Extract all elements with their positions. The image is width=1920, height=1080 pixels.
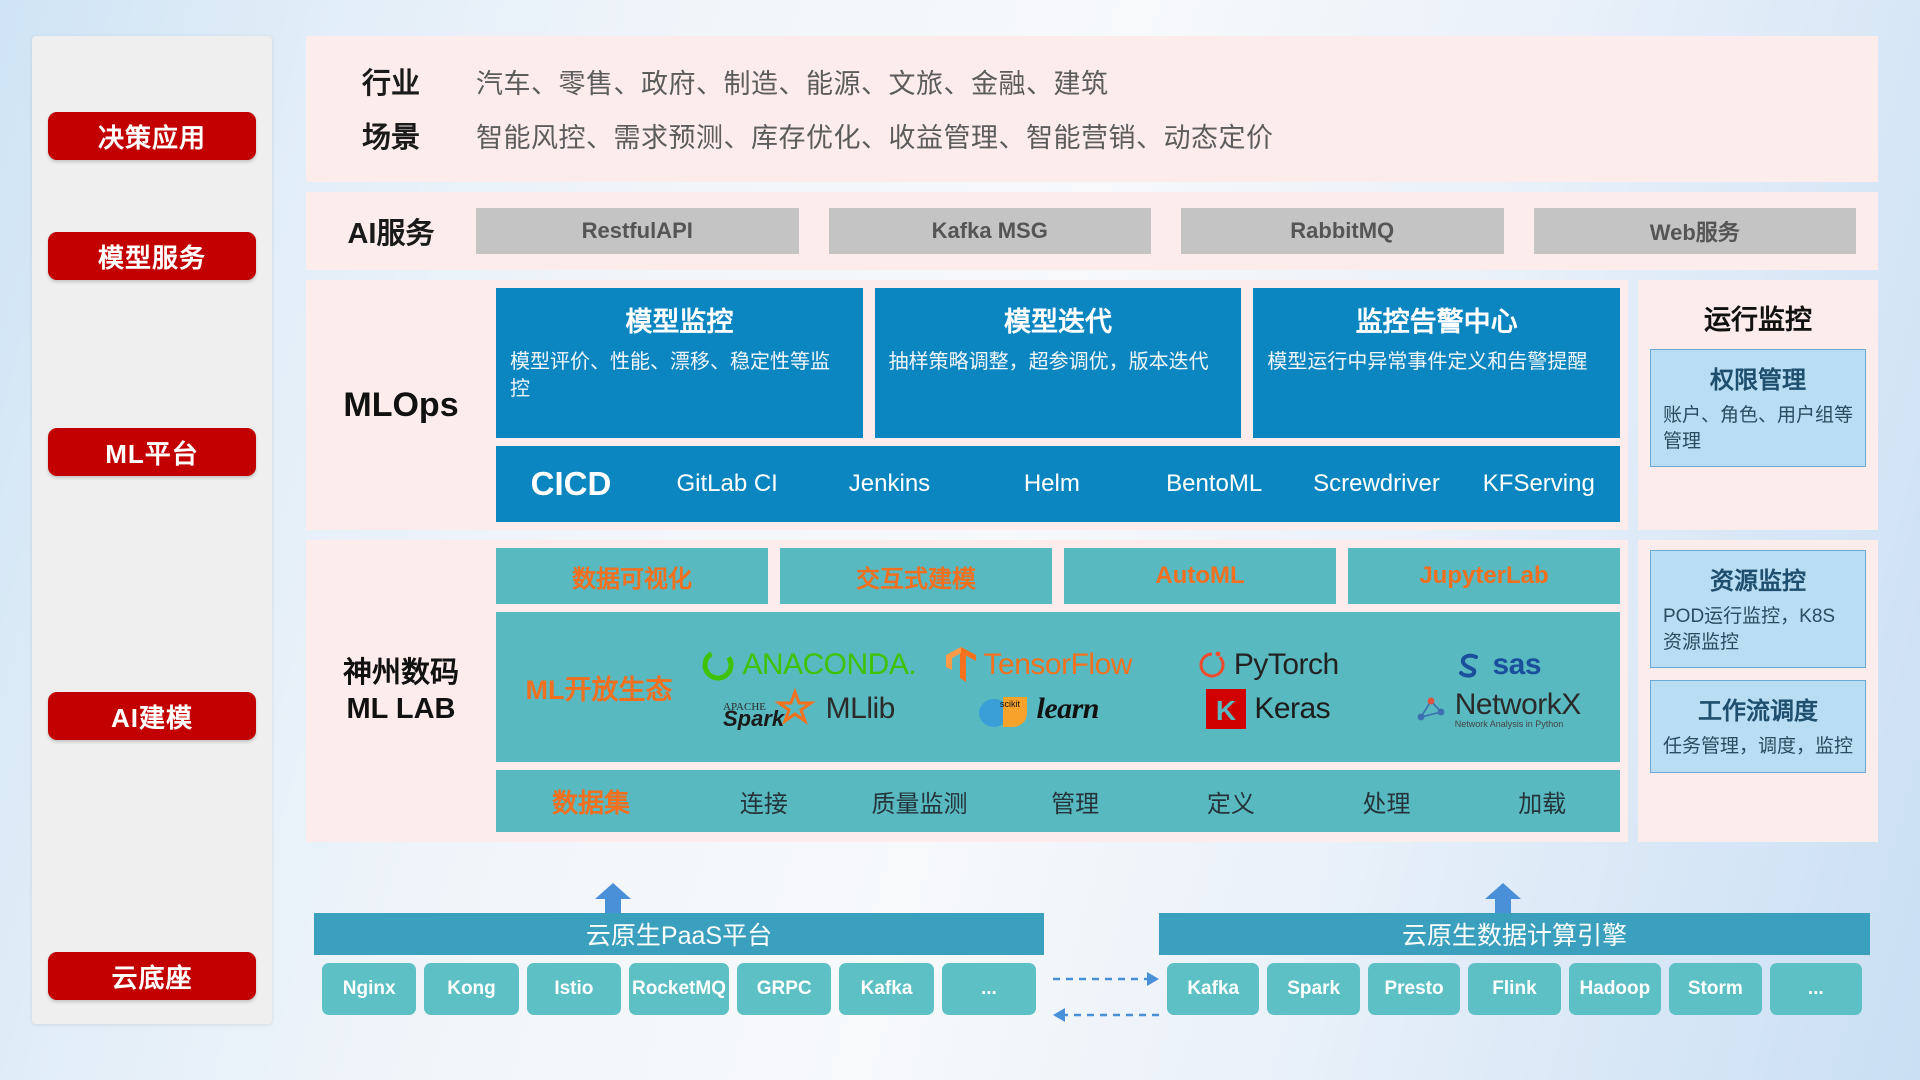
svg-text:scikit: scikit xyxy=(1000,699,1020,709)
mlops-card-title: 模型监控 xyxy=(510,300,849,339)
runtime-monitoring-sidebar-lower: 资源监控 POD运行监控，K8S资源监控 工作流调度 任务管理，调度，监控 xyxy=(1638,540,1878,842)
dataset-item-quality[interactable]: 质量监测 xyxy=(842,784,998,819)
cicd-item-jenkins[interactable]: Jenkins xyxy=(808,471,970,496)
dataset-item-process[interactable]: 处理 xyxy=(1309,784,1465,819)
scenario-row-label: 场景 xyxy=(306,114,476,156)
cloud-native-paas-group: 云原生PaaS平台 Nginx Kong Istio RocketMQ GRPC… xyxy=(314,913,1044,1025)
mlops-card-title: 模型迭代 xyxy=(889,300,1228,339)
cloud-native-paas-chip-list: Nginx Kong Istio RocketMQ GRPC Kafka ... xyxy=(314,955,1044,1025)
spark-icon: APACHE Spark xyxy=(723,688,819,730)
data-chip-presto[interactable]: Presto xyxy=(1368,963,1460,1015)
cloud-foundation-section: 云原生PaaS平台 Nginx Kong Istio RocketMQ GRPC… xyxy=(306,885,1878,1055)
networkx-icon xyxy=(1414,692,1448,726)
ml-lab-content: 数据可视化 交互式建模 AutoML JupyterLab ML开放生态 ANA… xyxy=(496,540,1628,842)
monitor-card-permission[interactable]: 权限管理 账户、角色、用户组等管理 xyxy=(1650,349,1866,467)
left-rail: 决策应用 模型服务 ML平台 AI建模 云底座 xyxy=(32,36,272,1024)
data-chip-flink[interactable]: Flink xyxy=(1468,963,1560,1015)
ai-service-chip-kafka-msg[interactable]: Kafka MSG xyxy=(829,208,1152,254)
anaconda-icon xyxy=(701,648,735,682)
rail-chip-label: 决策应用 xyxy=(98,118,206,155)
monitor-card-title: 权限管理 xyxy=(1663,360,1853,395)
cicd-item-gitlab-ci[interactable]: GitLab CI xyxy=(646,471,808,496)
logo-keras: K Keras xyxy=(1153,688,1383,730)
ai-service-chip-web-service[interactable]: Web服务 xyxy=(1534,208,1857,254)
keras-icon: K xyxy=(1205,688,1247,730)
monitor-card-title: 工作流调度 xyxy=(1663,691,1853,726)
logo-mllib-label: MLlib xyxy=(826,692,895,726)
ml-open-ecosystem-row: ML开放生态 ANACONDA. xyxy=(496,612,1620,762)
monitor-card-desc: 任务管理，调度，监控 xyxy=(1663,734,1853,760)
data-chip-spark[interactable]: Spark xyxy=(1267,963,1359,1015)
cloud-chip-rocketmq[interactable]: RocketMQ xyxy=(629,963,729,1015)
dataset-item-manage[interactable]: 管理 xyxy=(997,784,1153,819)
mlops-panel: MLOps 模型监控 模型评价、性能、漂移、稳定性等监控 模型迭代 抽样策略调整… xyxy=(306,280,1628,530)
dataset-item-connect[interactable]: 连接 xyxy=(686,784,842,819)
logo-anaconda-label: ANACONDA. xyxy=(742,648,916,682)
mlops-content: 模型监控 模型评价、性能、漂移、稳定性等监控 模型迭代 抽样策略调整，超参调优，… xyxy=(496,280,1628,530)
logo-anaconda: ANACONDA. xyxy=(694,648,924,682)
monitor-card-workflow[interactable]: 工作流调度 任务管理，调度，监控 xyxy=(1650,680,1866,773)
logo-scikit-learn: scikit learn xyxy=(924,687,1154,731)
ai-service-chip-rabbitmq[interactable]: RabbitMQ xyxy=(1181,208,1504,254)
sidebar-spacer xyxy=(1650,785,1866,830)
data-chip-storm[interactable]: Storm xyxy=(1669,963,1761,1015)
monitor-card-resource[interactable]: 资源监控 POD运行监控，K8S资源监控 xyxy=(1650,550,1866,668)
monitor-card-desc: POD运行监控，K8S资源监控 xyxy=(1663,604,1853,655)
ml-lab-label: 神州数码 ML LAB xyxy=(306,540,496,842)
cicd-title: CICD xyxy=(496,465,646,503)
logo-learn-label: learn xyxy=(1036,692,1099,726)
up-arrow-paas-icon xyxy=(591,883,635,917)
tool-chip-interactive-modeling[interactable]: 交互式建模 xyxy=(780,548,1052,604)
scenario-row: 场景 智能风控、需求预测、库存优化、收益管理、智能营销、动态定价 xyxy=(306,108,1878,162)
cloud-chip-istio[interactable]: Istio xyxy=(527,963,621,1015)
ai-service-chip-restfulapi[interactable]: RestfulAPI xyxy=(476,208,799,254)
mlops-card-title: 监控告警中心 xyxy=(1267,300,1606,339)
cloud-chip-kafka[interactable]: Kafka xyxy=(839,963,933,1015)
logo-keras-label: Keras xyxy=(1254,692,1330,726)
cicd-item-kfserving[interactable]: KFServing xyxy=(1458,471,1620,496)
tool-chip-data-visualization[interactable]: 数据可视化 xyxy=(496,548,768,604)
dataset-row: 数据集 连接 质量监测 管理 定义 处理 加载 xyxy=(496,770,1620,832)
mlops-card-desc: 模型评价、性能、漂移、稳定性等监控 xyxy=(510,349,849,403)
logo-tensorflow-label: TensorFlow xyxy=(984,648,1132,682)
dataset-label: 数据集 xyxy=(496,783,686,820)
logo-networkx: NetworkX Network Analysis in Python xyxy=(1383,690,1613,729)
bidirectional-dashed-arrows-icon xyxy=(1051,967,1161,1027)
scikit-learn-icon: scikit xyxy=(977,687,1029,731)
runtime-monitoring-sidebar: 运行监控 权限管理 账户、角色、用户组等管理 xyxy=(1638,280,1878,530)
cloud-chip-nginx[interactable]: Nginx xyxy=(322,963,416,1015)
ml-lab-row: 神州数码 ML LAB 数据可视化 交互式建模 AutoML JupyterLa… xyxy=(306,540,1878,842)
cloud-chip-grpc[interactable]: GRPC xyxy=(737,963,831,1015)
cloud-native-data-engine-title: 云原生数据计算引擎 xyxy=(1159,913,1870,955)
cloud-native-data-engine-chip-list: Kafka Spark Presto Flink Hadoop Storm ..… xyxy=(1159,955,1870,1025)
tool-chip-automl[interactable]: AutoML xyxy=(1064,548,1336,604)
main-architecture-column: 行业 汽车、零售、政府、制造、能源、文旅、金融、建筑 场景 智能风控、需求预测、… xyxy=(306,36,1878,842)
rail-chip-ai-modeling[interactable]: AI建模 xyxy=(48,692,256,740)
logo-sas: sas xyxy=(1383,648,1613,682)
logo-pytorch: PyTorch xyxy=(1153,648,1383,682)
rail-chip-label: 云底座 xyxy=(111,958,192,995)
logo-sas-label: sas xyxy=(1492,648,1541,682)
monitor-card-title: 资源监控 xyxy=(1663,561,1853,596)
mlops-card-alert-center[interactable]: 监控告警中心 模型运行中异常事件定义和告警提醒 xyxy=(1253,288,1620,438)
monitor-card-desc: 账户、角色、用户组等管理 xyxy=(1663,403,1853,454)
mlops-card-model-iteration[interactable]: 模型迭代 抽样策略调整，超参调优，版本迭代 xyxy=(875,288,1242,438)
mlops-row: MLOps 模型监控 模型评价、性能、漂移、稳定性等监控 模型迭代 抽样策略调整… xyxy=(306,280,1878,530)
industry-scenario-band: 行业 汽车、零售、政府、制造、能源、文旅、金融、建筑 场景 智能风控、需求预测、… xyxy=(306,36,1878,182)
rail-chip-model-service[interactable]: 模型服务 xyxy=(48,232,256,280)
mlops-card-desc: 抽样策略调整，超参调优，版本迭代 xyxy=(889,349,1228,376)
logo-spark-mllib: APACHE Spark MLlib xyxy=(694,688,924,730)
mlops-card-model-monitoring[interactable]: 模型监控 模型评价、性能、漂移、稳定性等监控 xyxy=(496,288,863,438)
ml-lab-panel: 神州数码 ML LAB 数据可视化 交互式建模 AutoML JupyterLa… xyxy=(306,540,1628,842)
svg-text:K: K xyxy=(1216,695,1236,726)
data-chip-hadoop[interactable]: Hadoop xyxy=(1569,963,1661,1015)
logo-networkx-tagline: Network Analysis in Python xyxy=(1455,720,1581,729)
data-chip-kafka[interactable]: Kafka xyxy=(1167,963,1259,1015)
cicd-item-helm[interactable]: Helm xyxy=(971,471,1133,496)
ml-lab-label-line1: 神州数码 xyxy=(343,655,459,691)
rail-chip-ml-platform[interactable]: ML平台 xyxy=(48,428,256,476)
tool-chip-jupyterlab[interactable]: JupyterLab xyxy=(1348,548,1620,604)
svg-text:Spark: Spark xyxy=(723,706,786,730)
industry-row: 行业 汽车、零售、政府、制造、能源、文旅、金融、建筑 xyxy=(306,54,1878,108)
ml-open-ecosystem-label: ML开放生态 xyxy=(504,668,694,707)
cloud-chip-kong[interactable]: Kong xyxy=(424,963,518,1015)
cloud-chip-more[interactable]: ... xyxy=(942,963,1036,1015)
mlops-card-desc: 模型运行中异常事件定义和告警提醒 xyxy=(1267,349,1606,376)
cloud-native-data-engine-group: 云原生数据计算引擎 Kafka Spark Presto Flink Hadoo… xyxy=(1159,913,1870,1025)
rail-chip-decision-app[interactable]: 决策应用 xyxy=(48,112,256,160)
cicd-item-screwdriver[interactable]: Screwdriver xyxy=(1295,471,1457,496)
pytorch-icon xyxy=(1197,648,1227,682)
logo-networkx-label: NetworkX xyxy=(1455,690,1581,720)
cicd-item-bentoml[interactable]: BentoML xyxy=(1133,471,1295,496)
cloud-native-paas-title: 云原生PaaS平台 xyxy=(314,913,1044,955)
industry-row-label: 行业 xyxy=(306,60,476,102)
ecosystem-logo-grid: ANACONDA. TensorFlow xyxy=(694,643,1612,731)
ml-lab-label-line2: ML LAB xyxy=(346,691,455,727)
cicd-bar: CICD GitLab CI Jenkins Helm BentoML Scre… xyxy=(496,446,1620,522)
ai-service-band: AI服务 RestfulAPI Kafka MSG RabbitMQ Web服务 xyxy=(306,192,1878,270)
dataset-item-load[interactable]: 加载 xyxy=(1464,784,1620,819)
up-arrow-data-engine-icon xyxy=(1481,883,1525,917)
data-chip-more[interactable]: ... xyxy=(1770,963,1862,1015)
scenario-row-values: 智能风控、需求预测、库存优化、收益管理、智能营销、动态定价 xyxy=(476,116,1274,155)
industry-row-values: 汽车、零售、政府、制造、能源、文旅、金融、建筑 xyxy=(476,62,1109,101)
rail-chip-label: AI建模 xyxy=(111,698,193,735)
mlops-card-list: 模型监控 模型评价、性能、漂移、稳定性等监控 模型迭代 抽样策略调整，超参调优，… xyxy=(496,288,1620,438)
rail-chip-label: ML平台 xyxy=(105,434,199,471)
tensorflow-icon xyxy=(945,646,977,684)
logo-tensorflow: TensorFlow xyxy=(924,646,1154,684)
sas-icon xyxy=(1453,649,1485,681)
rail-chip-label: 模型服务 xyxy=(98,238,206,275)
rail-chip-cloud-base[interactable]: 云底座 xyxy=(48,952,256,1000)
runtime-monitoring-title: 运行监控 xyxy=(1650,290,1866,349)
logo-pytorch-label: PyTorch xyxy=(1234,648,1339,682)
ai-service-label: AI服务 xyxy=(306,210,476,252)
ai-service-chip-list: RestfulAPI Kafka MSG RabbitMQ Web服务 xyxy=(476,208,1878,254)
mlops-label: MLOps xyxy=(306,280,496,530)
dataset-item-define[interactable]: 定义 xyxy=(1153,784,1309,819)
ml-lab-tool-list: 数据可视化 交互式建模 AutoML JupyterLab xyxy=(496,548,1620,604)
